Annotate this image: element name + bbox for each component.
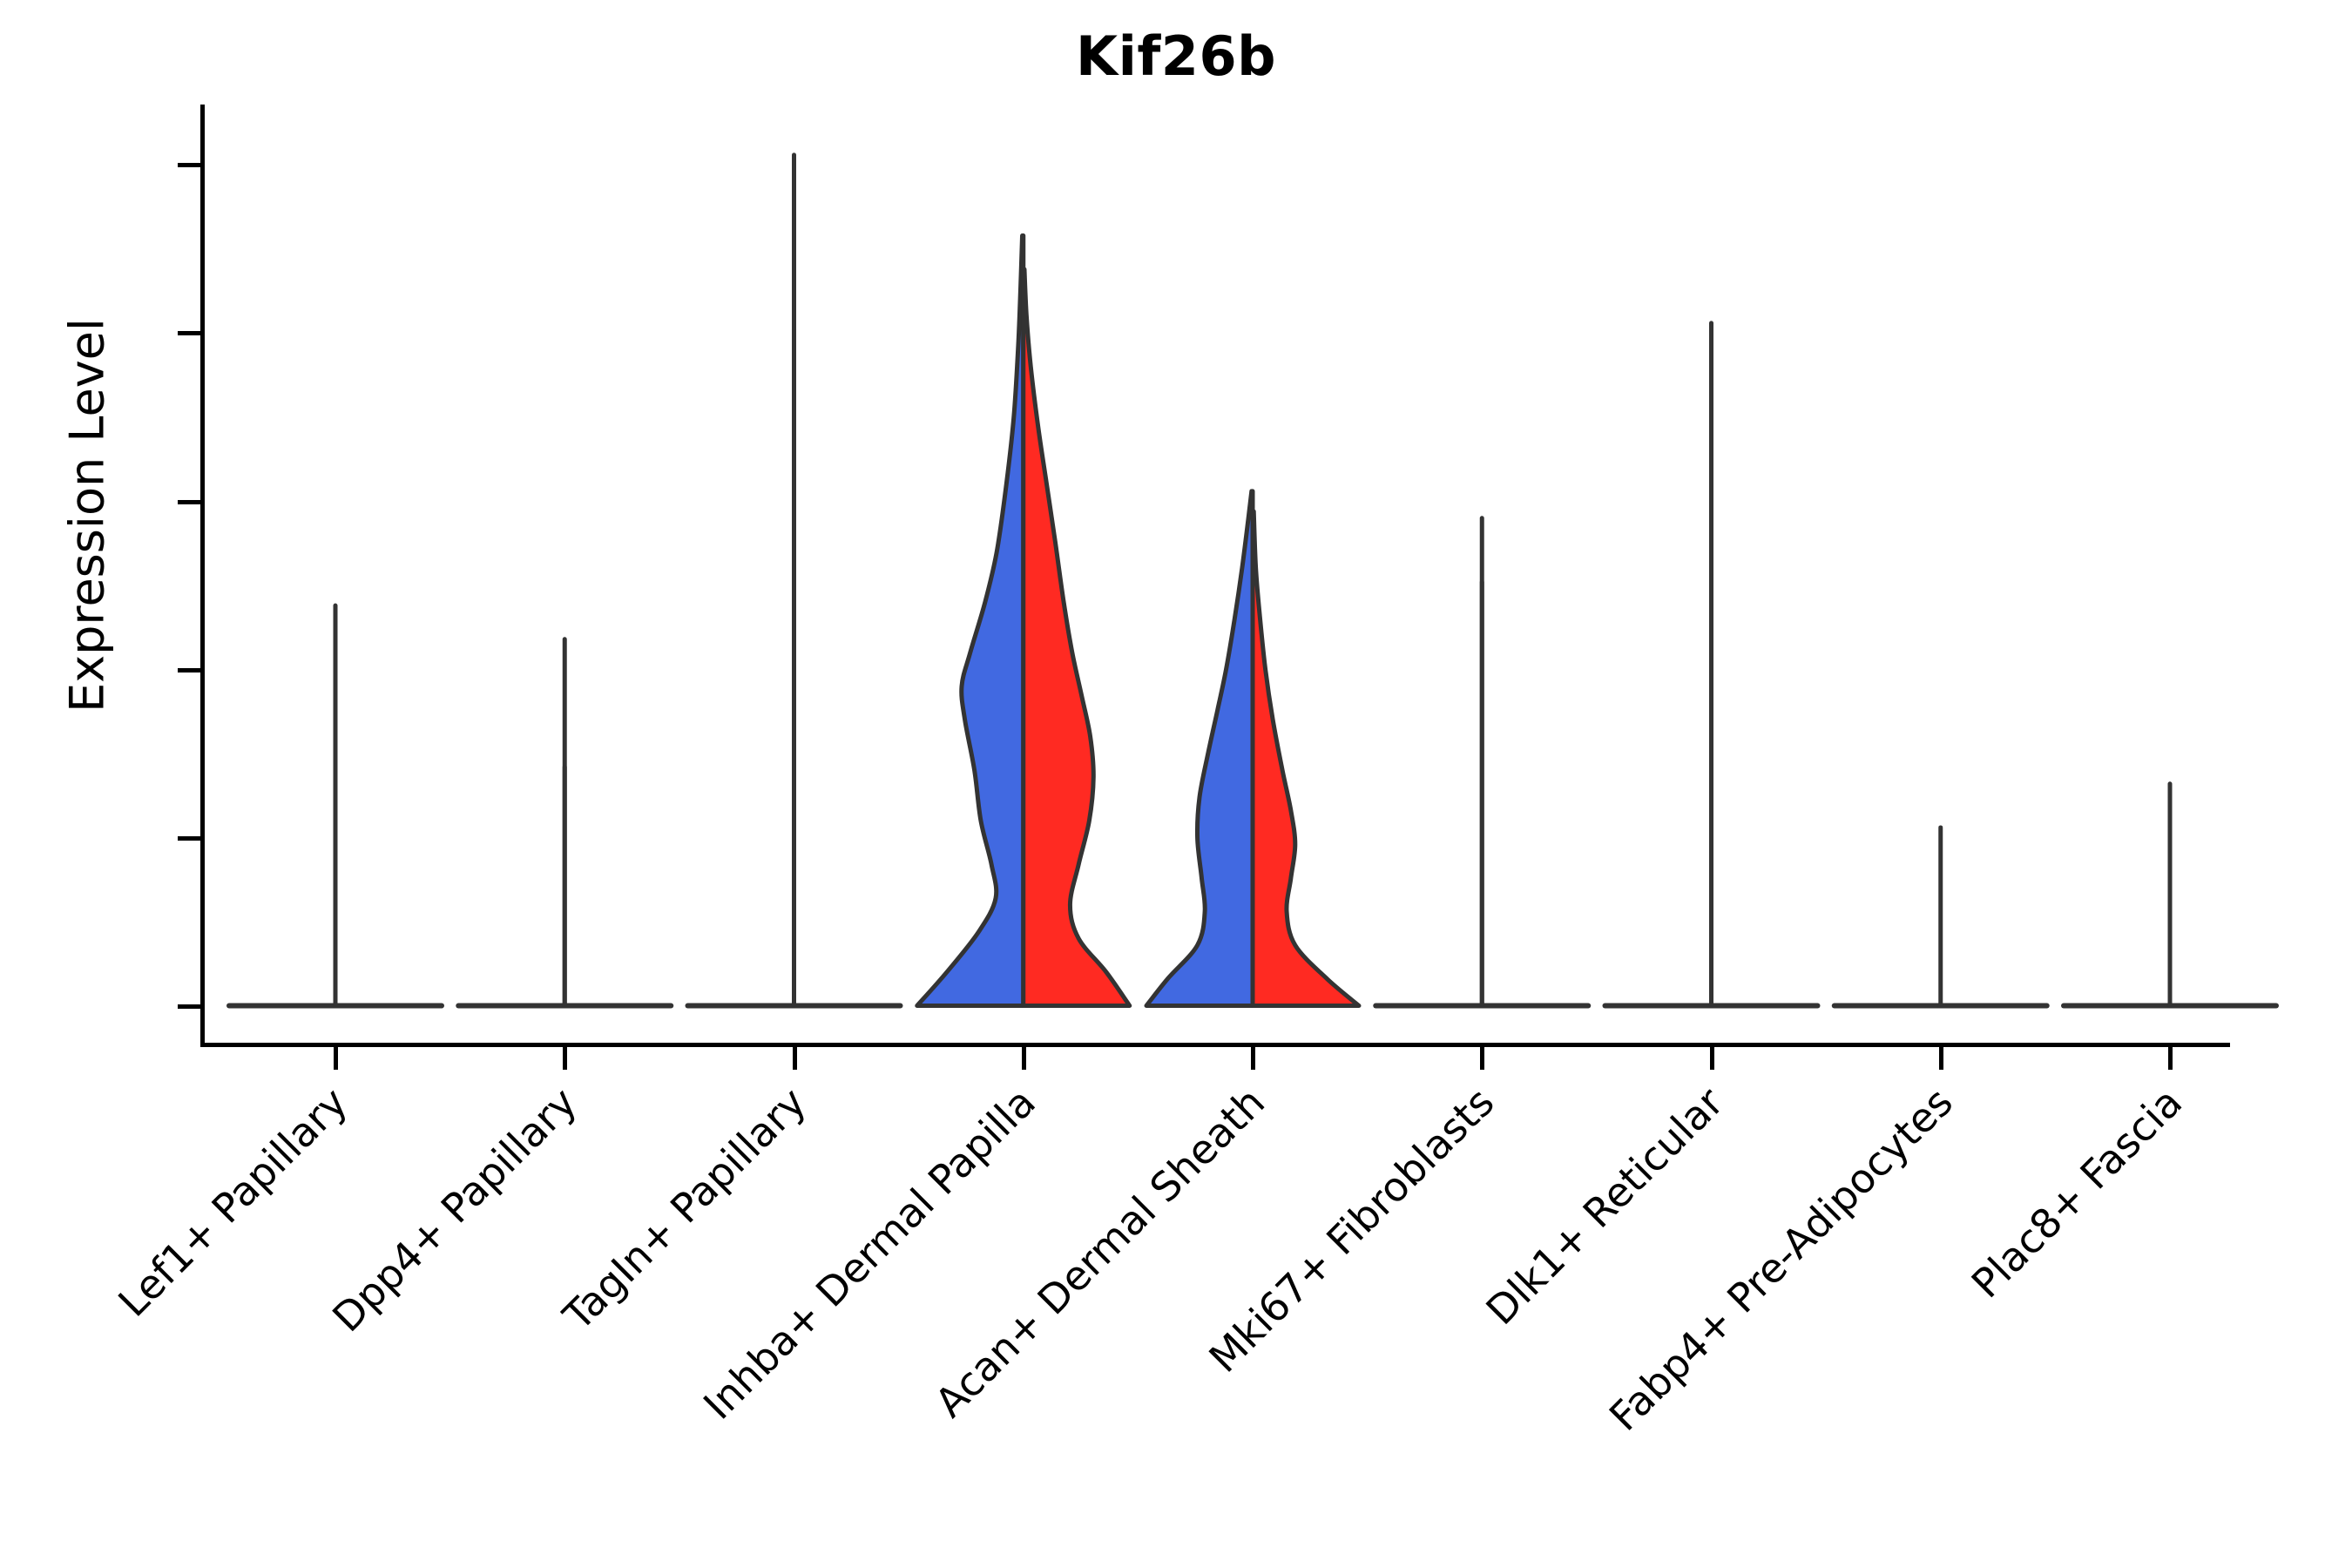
- x-tick-8: [2168, 1047, 2173, 1070]
- violin-body-blue-half-4: [1146, 491, 1253, 1006]
- x-tick-3: [1022, 1047, 1026, 1070]
- y-tick-4: [178, 331, 200, 335]
- x-tick-label-0: Lef1+ Papillary: [109, 1078, 356, 1326]
- violin-series-layer: [200, 105, 2230, 1047]
- x-tick-label-6: Dlk1+ Reticular: [1477, 1078, 1732, 1334]
- x-tick-1: [563, 1047, 567, 1070]
- x-tick-label-1: Dpp4+ Papillary: [323, 1078, 585, 1341]
- x-tick-2: [793, 1047, 797, 1070]
- y-tick-3: [178, 500, 200, 504]
- y-tick-0: [178, 1004, 200, 1009]
- violin-body-red-half-4: [1253, 511, 1359, 1005]
- x-tick-label-2: TagIn+ Papillary: [554, 1078, 814, 1339]
- x-tick-7: [1939, 1047, 1943, 1070]
- x-tick-4: [1251, 1047, 1255, 1070]
- x-tick-label-8: Plac8+ Fascia: [1963, 1078, 2191, 1307]
- violin-body-red-half-3: [1024, 269, 1130, 1005]
- x-tick-6: [1710, 1047, 1714, 1070]
- y-tick-5: [178, 163, 200, 167]
- plot-axes: [200, 105, 2230, 1047]
- x-tick-5: [1480, 1047, 1484, 1070]
- page-title: Kif26b: [0, 24, 2352, 88]
- y-tick-2: [178, 668, 200, 672]
- x-tick-0: [334, 1047, 338, 1070]
- violin-plot-figure: Kif26b Expression Level 0.00.51.01.52.02…: [0, 0, 2352, 1568]
- y-axis-label: Expression Level: [60, 167, 115, 864]
- y-tick-1: [178, 836, 200, 841]
- violin-body-blue-half-3: [917, 236, 1024, 1006]
